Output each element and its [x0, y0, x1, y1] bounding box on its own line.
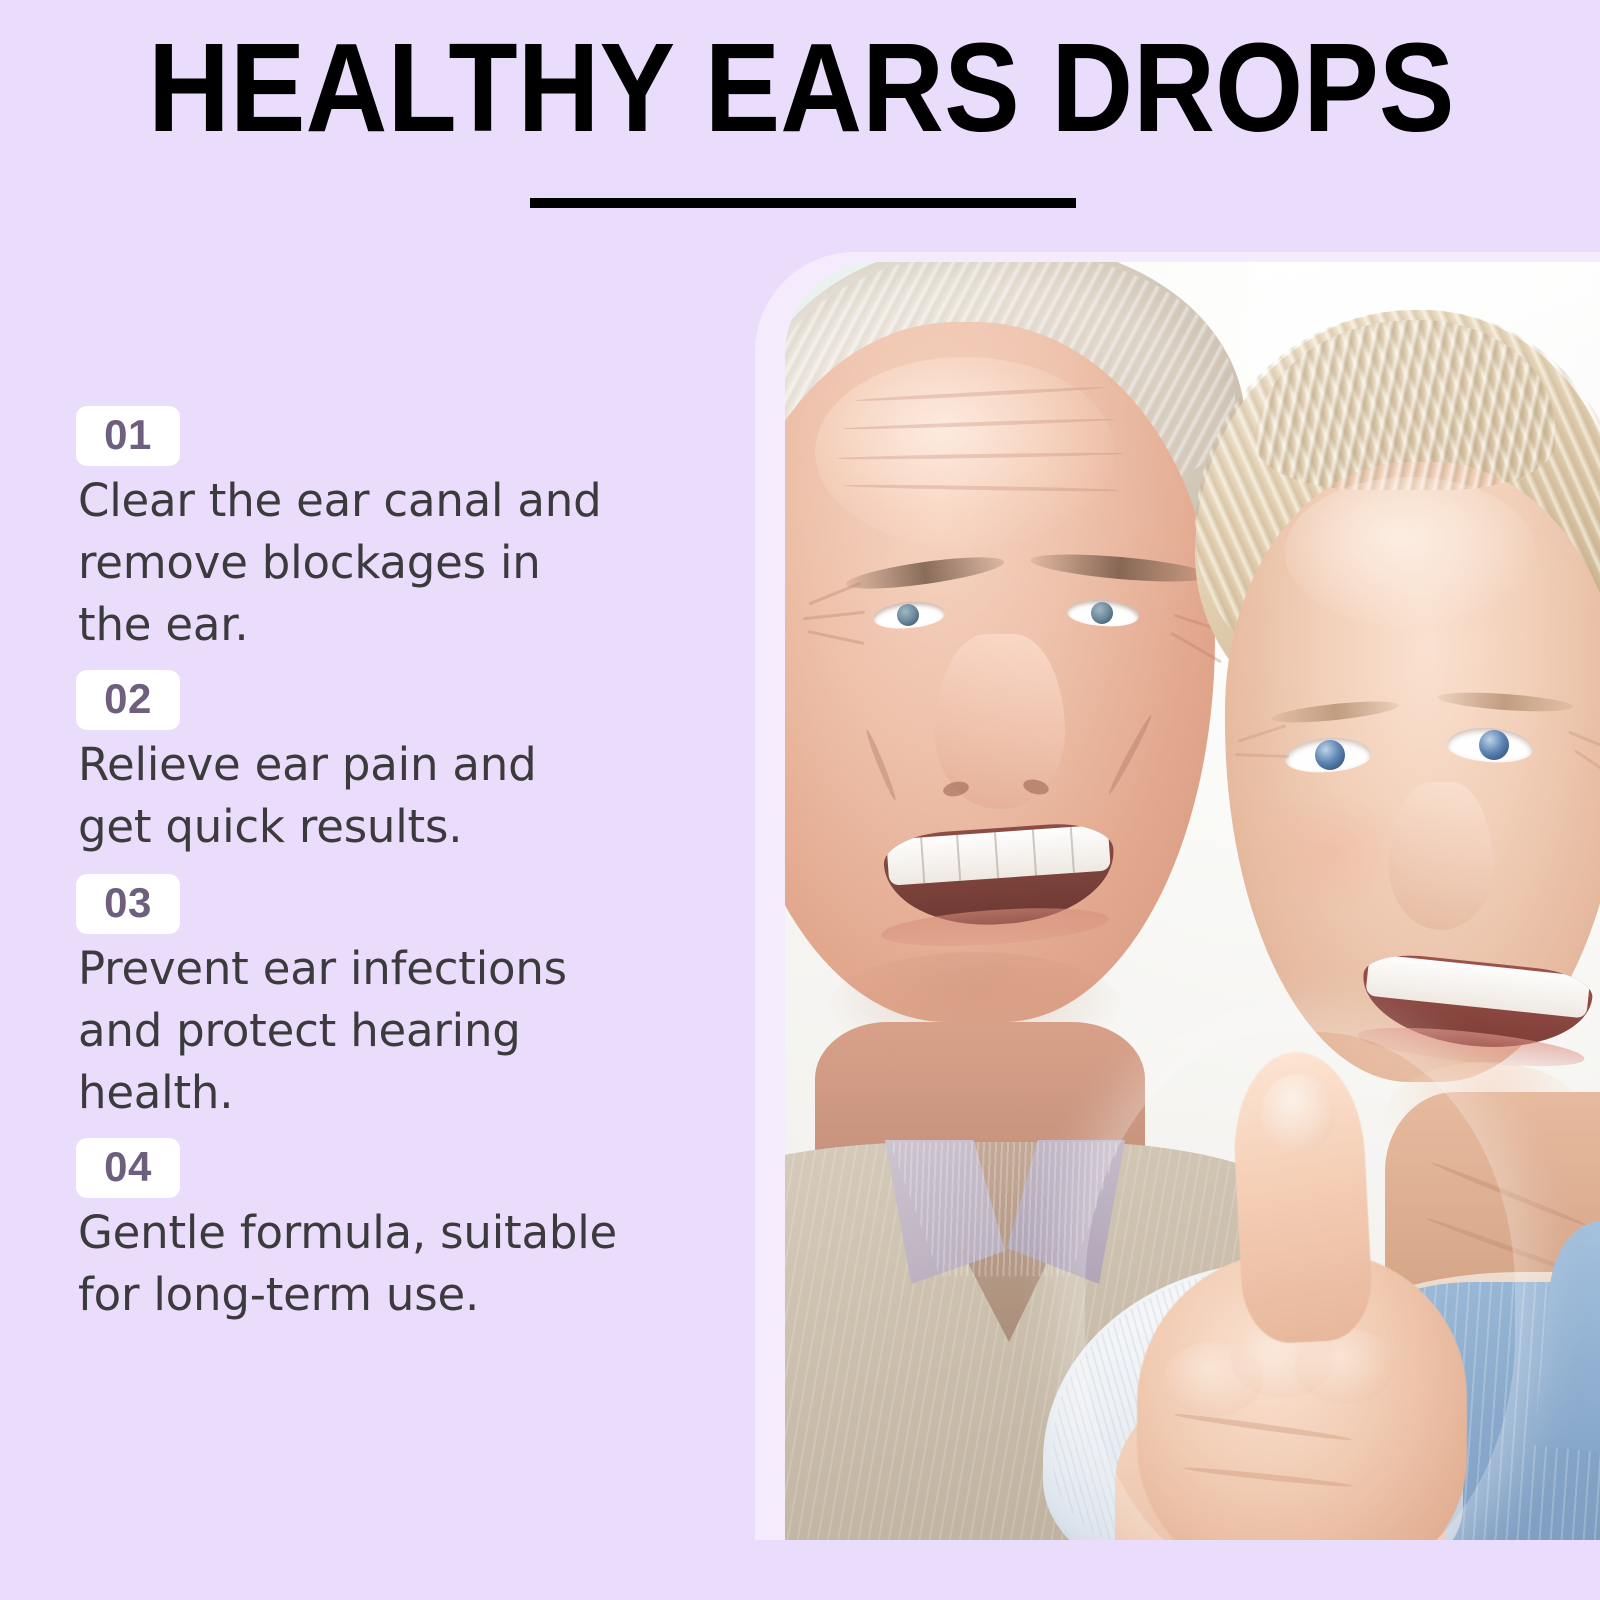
- woman-cheek: [1251, 792, 1411, 912]
- feature-number-badge-04: 04: [76, 1138, 180, 1198]
- man-iris-left: [897, 604, 919, 626]
- feature-number-badge-02: 02: [76, 670, 180, 730]
- woman-nose: [1389, 782, 1493, 930]
- feature-text-03: Prevent ear infections and protect heari…: [78, 938, 618, 1124]
- poster-canvas: HEALTHY EARS DROPS 01 Clear the ear cana…: [0, 0, 1600, 1600]
- title-underline-rule: [530, 198, 1076, 208]
- feature-number-badge-01: 01: [76, 406, 180, 466]
- feature-list: 01 Clear the ear canal and remove blocka…: [76, 406, 676, 1326]
- feature-item-02: 02 Relieve ear pain and get quick result…: [76, 670, 676, 858]
- woman-iris-right: [1479, 730, 1509, 760]
- feature-text-01: Clear the ear canal and remove blockages…: [78, 470, 618, 656]
- woman-forehead-highlight: [1285, 477, 1535, 627]
- feature-item-01: 01 Clear the ear canal and remove blocka…: [76, 406, 676, 656]
- hand-motion-glow: [1085, 1032, 1515, 1540]
- feature-text-02: Relieve ear pain and get quick results.: [78, 734, 618, 858]
- man-iris-right: [1091, 602, 1113, 624]
- feature-text-04: Gentle formula, suitable for long-term u…: [78, 1202, 618, 1326]
- feature-item-04: 04 Gentle formula, suitable for long-ter…: [76, 1138, 676, 1326]
- couple-photo: [785, 262, 1600, 1540]
- feature-number-badge-03: 03: [76, 874, 180, 934]
- page-title: HEALTHY EARS DROPS: [148, 22, 1324, 154]
- woman-iris-left: [1315, 740, 1345, 770]
- feature-item-03: 03 Prevent ear infections and protect he…: [76, 874, 676, 1124]
